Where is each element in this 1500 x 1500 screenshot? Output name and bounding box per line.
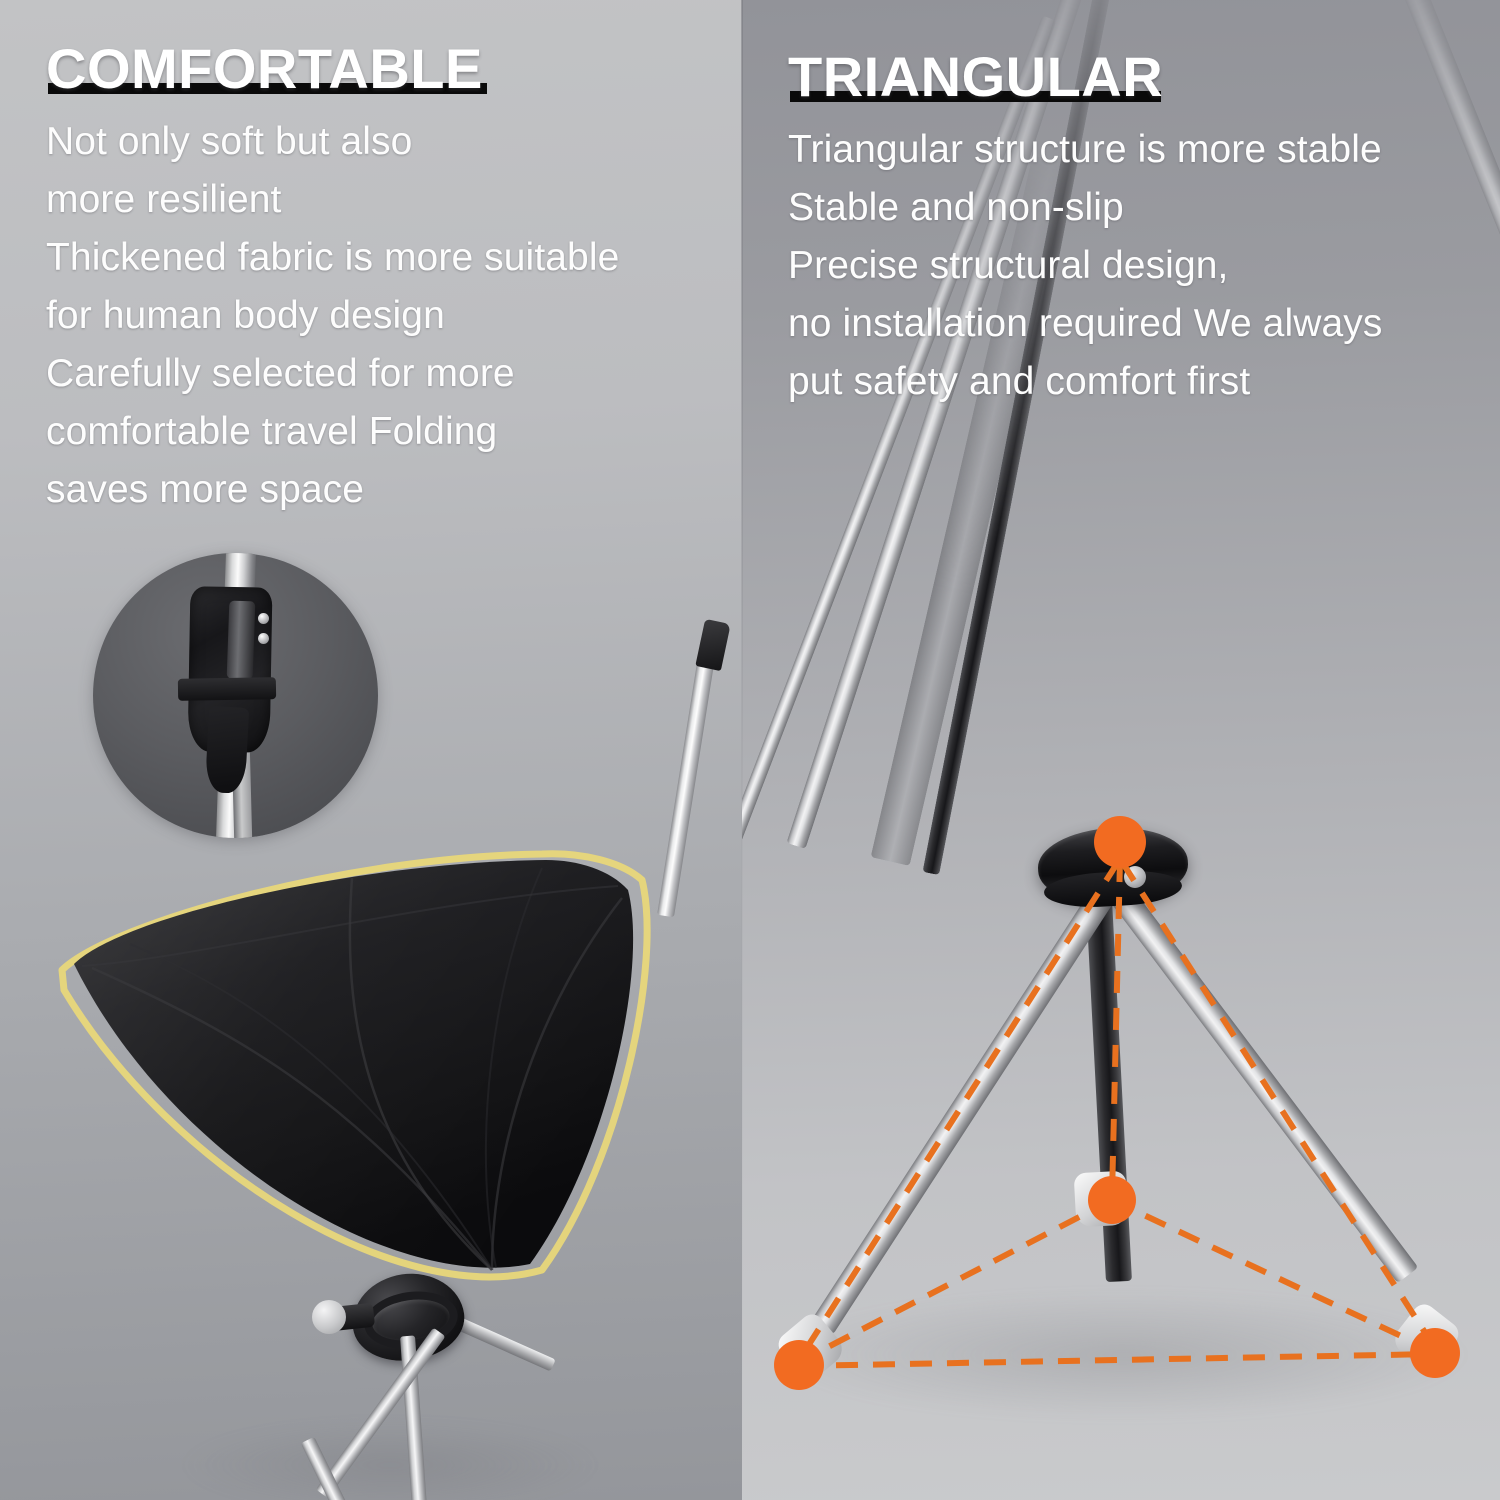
left-body-line: comfortable travel Folding [46,403,736,461]
seam-5 [486,868,542,1268]
right-body-copy: Triangular structure is more stable Stab… [788,121,1488,411]
left-heading: COMFORTABLE [46,40,483,97]
yellow-contour [62,854,647,1277]
seat-highlight-outline [22,840,722,1340]
inset-strap-band [178,678,276,702]
seat-sheen [74,860,633,1268]
back-pole [657,638,718,917]
right-body-line: Triangular structure is more stable [788,121,1488,179]
tripod-foot-right [1389,1300,1463,1375]
left-heading-text: COMFORTABLE [46,37,483,100]
back-pole-tip [695,619,730,671]
right-heading-text: TRIANGULAR [788,45,1163,108]
seam-4 [130,944,490,1266]
right-body-line: no installation required We always [788,295,1488,353]
seam-1 [350,878,492,1270]
right-body-line: Precise structural design, [788,237,1488,295]
right-copy-block: TRIANGULAR Triangular structure is more … [788,48,1488,411]
panel-comfortable: COMFORTABLE Not only soft but also more … [0,0,742,1500]
left-body-line: Not only soft but also [46,113,736,171]
tripod-hub-screw [1124,866,1146,888]
seam-3 [492,898,622,1270]
tripod-leg-left [1085,852,1419,1283]
left-copy-block: COMFORTABLE Not only soft but also more … [46,40,736,519]
left-body-line: Thickened fabric is more suitable [46,229,736,287]
left-body-line: Carefully selected for more [46,345,736,403]
right-body-line: put safety and comfort first [788,353,1488,411]
inset-buckle [227,601,256,680]
right-body-line: Stable and non-slip [788,179,1488,237]
right-heading: TRIANGULAR [788,48,1163,105]
product-infographic: COMFORTABLE Not only soft but also more … [0,0,1500,1500]
panel-triangular: TRIANGULAR Triangular structure is more … [742,0,1500,1500]
seam-2 [92,968,492,1270]
strap-clamp-inset [93,553,378,838]
tripod-leg-right [811,851,1138,1335]
tripod-foot-center [1074,1171,1129,1228]
left-body-line: for human body design [46,287,736,345]
seat-fabric [74,860,633,1268]
left-body-line: saves more space [46,461,736,519]
seat-shape [22,840,722,1340]
hub-end-cap [312,1300,346,1334]
left-body-copy: Not only soft but also more resilient Th… [46,113,736,519]
hem-top [82,886,618,966]
left-body-line: more resilient [46,171,736,229]
